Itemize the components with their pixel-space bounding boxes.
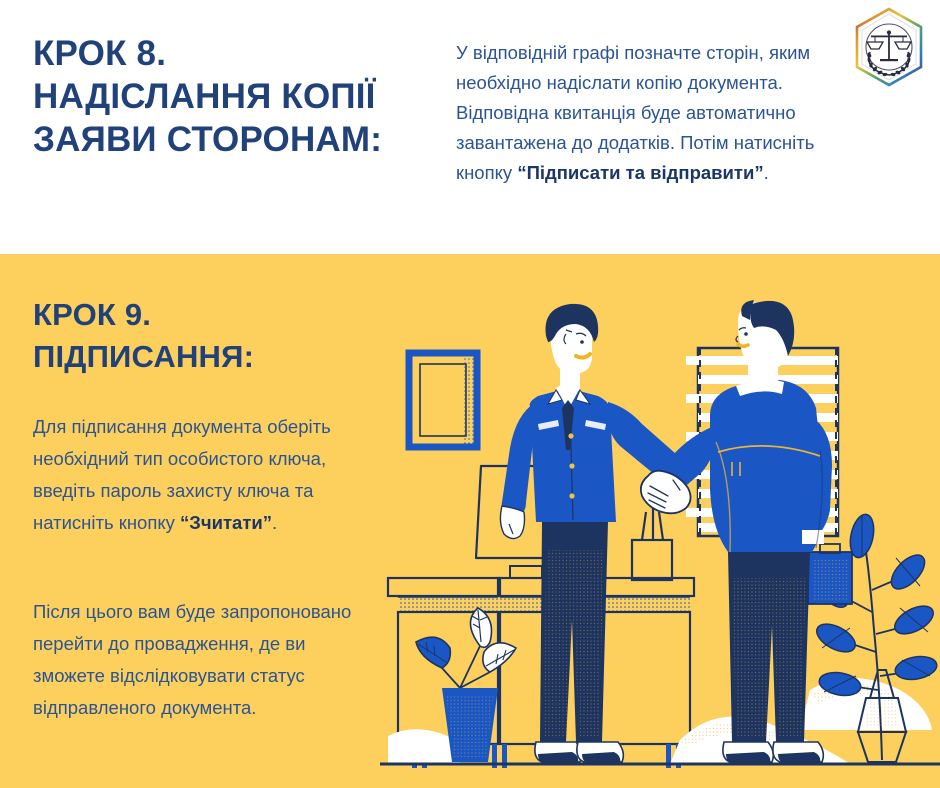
step-9-section: КРОК 9. ПІДПИСАННЯ: Для підписання докум… [0,254,940,788]
pen-holder-graphic [632,508,672,580]
step-9-p1-text-after: . [272,512,277,533]
infographic-page: КРОК 8. НАДІСЛАННЯ КОПІЇ ЗАЯВИ СТОРОНАМ:… [0,0,940,788]
step-9-paragraph-1: Для підписання документа оберіть необхід… [33,411,373,539]
step-9-button-name: “Зчитати” [180,512,272,533]
justice-scales-emblem-icon [850,6,928,88]
handshake-office-illustration [380,290,940,788]
step-8-section: КРОК 8. НАДІСЛАННЯ КОПІЇ ЗАЯВИ СТОРОНАМ:… [0,0,940,254]
picture-frame-graphic [409,353,477,447]
briefcase-graphic [808,544,852,604]
step-8-paragraph: У відповідній графі позначте сторін, яки… [456,38,846,188]
step-8-heading: КРОК 8. НАДІСЛАННЯ КОПІЇ ЗАЯВИ СТОРОНАМ: [33,32,433,161]
businessman-back-graphic [645,300,832,764]
step-9-heading: КРОК 9. ПІДПИСАННЯ: [33,294,393,378]
step-8-button-name: “Підписати та відправити” [517,162,763,183]
step-9-paragraph-2: Після цього вам буде запропоновано перей… [33,596,378,724]
step-8-text-after: . [764,162,769,183]
